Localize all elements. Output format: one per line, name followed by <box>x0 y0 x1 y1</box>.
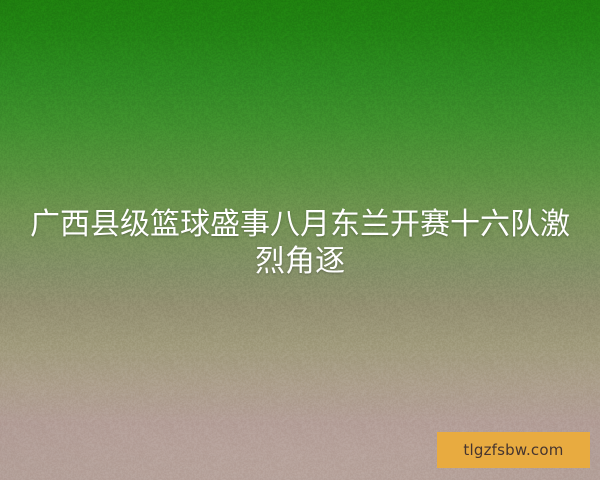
cover-title: 广西县级篮球盛事八月东兰开赛十六队激烈角逐 <box>28 206 572 280</box>
article-cover-card: 广西县级篮球盛事八月东兰开赛十六队激烈角逐 tlgzfsbw.com <box>0 0 600 480</box>
site-watermark-label: tlgzfsbw.com <box>463 443 563 458</box>
site-watermark-badge[interactable]: tlgzfsbw.com <box>437 432 590 468</box>
